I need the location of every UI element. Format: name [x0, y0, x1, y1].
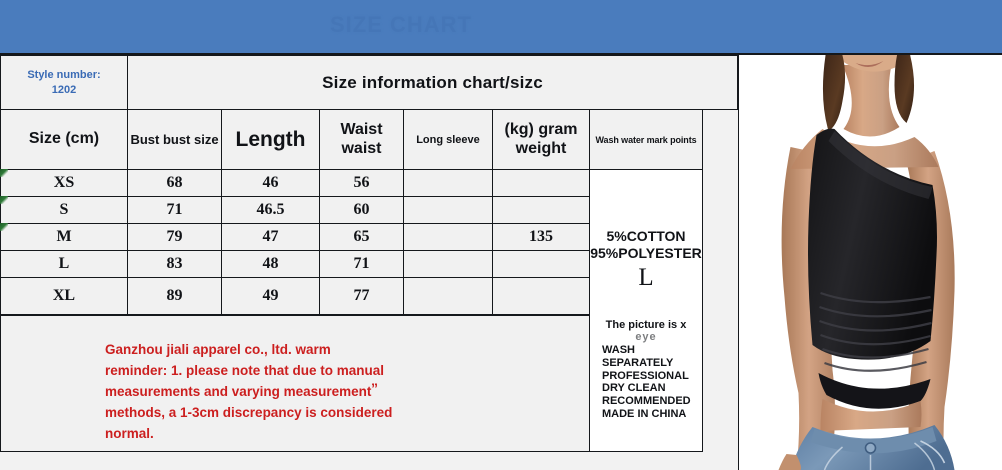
cell-length: 46 [263, 174, 279, 192]
size-letter: L [590, 264, 702, 292]
table-row: 48 [221, 250, 320, 278]
style-number-label: Style number: [27, 69, 100, 81]
table-row: 47 [221, 223, 320, 251]
care-line-5: MADE IN CHINA [602, 408, 686, 420]
cell-size: L [59, 255, 70, 273]
page-title: Size information chart/sizc [322, 73, 543, 93]
cell-size: XL [53, 287, 75, 305]
column-header-bust-label: Bust bust size [130, 132, 218, 147]
cell-bust: 83 [167, 255, 183, 273]
table-row: S [0, 196, 128, 224]
wash-care-cell: 5%COTTON 95%POLYESTER L The picture is x… [589, 169, 703, 452]
table-row [403, 277, 493, 315]
table-row [403, 223, 493, 251]
care-line-3: DRY CLEAN [602, 382, 666, 394]
cell-bust: 89 [167, 287, 183, 305]
care-line-2: PROFESSIONAL [602, 370, 689, 382]
cell-size: M [56, 228, 71, 246]
table-row: 68 [127, 169, 222, 197]
bottom-filler [0, 452, 738, 470]
cell-waist: 71 [354, 255, 370, 273]
table-row: 77 [319, 277, 404, 315]
table-row: 135 [492, 223, 590, 251]
care-line-1: WASH SEPARATELY [602, 344, 673, 369]
column-header-weight: (kg) gram weight [492, 109, 590, 170]
table-row: 46.5 [221, 196, 320, 224]
cell-length: 49 [263, 287, 279, 305]
table-row: 89 [127, 277, 222, 315]
table-row: 60 [319, 196, 404, 224]
banner-ghost-text: SIZE CHART [330, 12, 640, 42]
table-row: 83 [127, 250, 222, 278]
table-row: 65 [319, 223, 404, 251]
table-row: 46 [221, 169, 320, 197]
notice-line-1: Ganzhou jiali apparel co., ltd. warm [105, 342, 331, 357]
table-row: 71 [319, 250, 404, 278]
picture-note: The picture is x [590, 319, 702, 331]
table-row [492, 250, 590, 278]
column-header-waist: Waist waist [319, 109, 404, 170]
notice-line-4: methods, a 1-3cm discrepancy is consider… [105, 405, 392, 420]
column-header-bust: Bust bust size [127, 109, 222, 170]
notice-line-5: normal. [105, 426, 154, 441]
cell-size: S [60, 201, 69, 219]
cell-bust: 68 [167, 174, 183, 192]
notice-line-2: reminder: 1. please note that due to man… [105, 363, 384, 378]
table-row: 56 [319, 169, 404, 197]
table-row: XS [0, 169, 128, 197]
table-row: 79 [127, 223, 222, 251]
care-instructions: WASH SEPARATELY PROFESSIONAL DRY CLEAN R… [590, 344, 702, 421]
top-banner: SIZE CHART [0, 0, 1002, 55]
size-table: Style number: 1202 Size information char… [0, 55, 738, 452]
table-row: L [0, 250, 128, 278]
notice-line-3: measurements and varying measurement [105, 384, 371, 399]
column-header-sleeve: Long sleeve [403, 109, 493, 170]
column-header-weight-label: (kg) gram weight [493, 121, 589, 158]
cell-weight: 135 [529, 228, 553, 246]
cell-waist: 56 [354, 174, 370, 192]
cell-waist: 77 [354, 287, 370, 305]
column-header-length-label: Length [236, 128, 306, 152]
table-row [492, 277, 590, 315]
table-row [403, 169, 493, 197]
table-row: 71 [127, 196, 222, 224]
table-row: XL [0, 277, 128, 315]
warning-notice-text: Ganzhou jiali apparel co., ltd. warm rem… [1, 316, 589, 445]
warning-notice-cell: Ganzhou jiali apparel co., ltd. warm rem… [0, 315, 590, 452]
cell-size: XS [54, 174, 74, 192]
cell-bust: 71 [167, 201, 183, 219]
cell-waist: 65 [354, 228, 370, 246]
care-line-4: RECOMMENDED [602, 395, 691, 407]
cell-length: 48 [263, 255, 279, 273]
column-header-length: Length [221, 109, 320, 170]
column-header-wash-label: Wash water mark points [596, 135, 697, 145]
column-header-size-label: Size (cm) [29, 130, 99, 148]
stray-quote-mark: ” [371, 378, 378, 400]
faded-note: eye [590, 331, 702, 343]
table-row [403, 196, 493, 224]
chart-title-cell: Size information chart/sizc [127, 55, 738, 110]
product-photo [738, 55, 1002, 470]
table-row: 49 [221, 277, 320, 315]
cell-waist: 60 [354, 201, 370, 219]
cell-length: 47 [263, 228, 279, 246]
column-header-size: Size (cm) [0, 109, 128, 170]
style-number-cell: Style number: 1202 [0, 55, 128, 110]
table-row: M [0, 223, 128, 251]
style-number-text: Style number: 1202 [27, 68, 100, 98]
size-chart-page: SIZE CHART Style number: 1202 Size infor… [0, 0, 1002, 470]
table-row [403, 250, 493, 278]
composition-line-2: 95%POLYESTER [590, 245, 702, 262]
column-header-wash: Wash water mark points [589, 109, 703, 170]
composition-line-1: 5%COTTON [590, 228, 702, 245]
table-row [492, 196, 590, 224]
product-photo-illustration [739, 55, 1002, 470]
column-header-sleeve-label: Long sleeve [416, 134, 480, 146]
style-number-value: 1202 [52, 84, 76, 96]
table-row [492, 169, 590, 197]
cell-bust: 79 [167, 228, 183, 246]
column-header-waist-label: Waist waist [320, 121, 403, 158]
cell-length: 46.5 [257, 201, 285, 219]
